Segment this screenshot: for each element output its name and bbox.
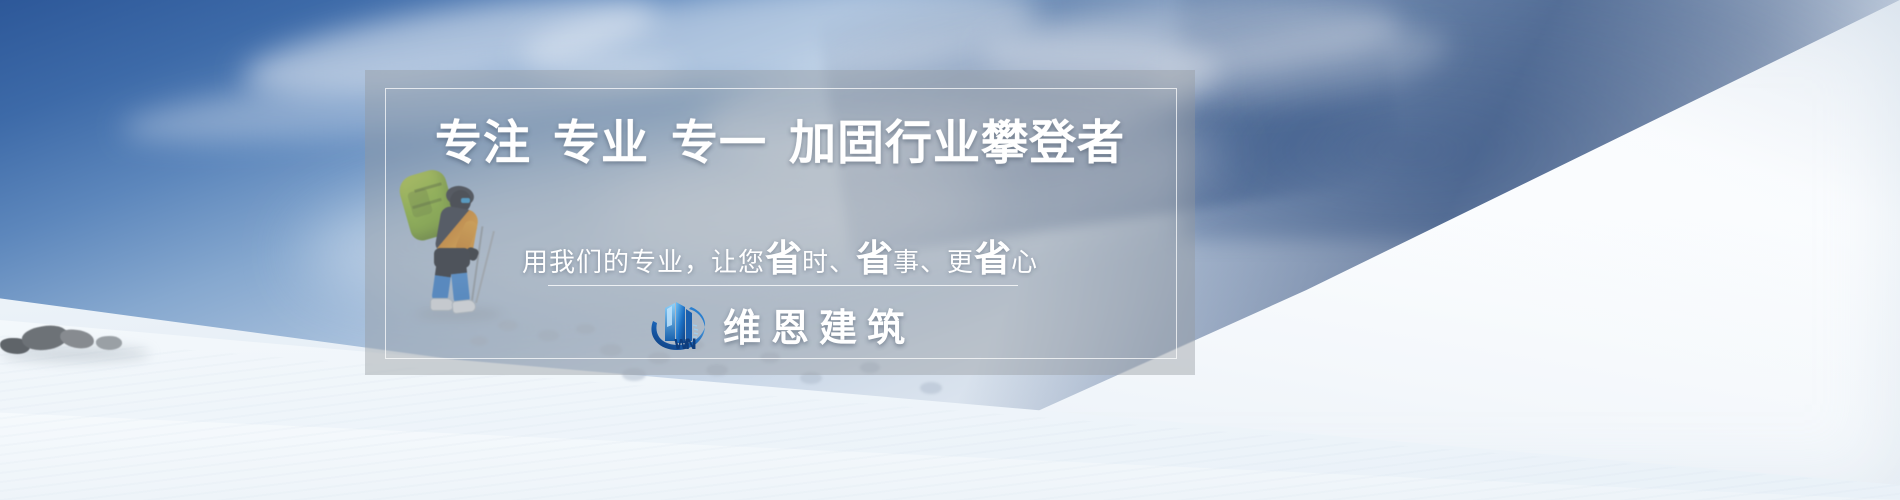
svg-text:N: N	[685, 337, 697, 353]
subtitle-rest-1: 时、	[802, 248, 856, 278]
subtitle-rest-3: 心	[1011, 248, 1038, 278]
banner-subtitle: 用我们的专业，让您省时、省事、更省心	[365, 228, 1195, 282]
brand-row: W N 维恩建筑	[365, 288, 1195, 360]
subtitle-strong-1: 省	[765, 237, 802, 280]
headline-segment-2: 专业	[553, 116, 649, 171]
footprint	[920, 382, 942, 394]
headline-segment-4: 加固行业攀登者	[789, 116, 1125, 171]
company-logo-icon: W N	[645, 295, 707, 353]
headline-segment-3: 专一	[671, 116, 767, 171]
subtitle-strong-2: 省	[856, 237, 893, 280]
hero-banner: 专注专业专一加固行业攀登者 用我们的专业，让您省时、省事、更省心	[0, 0, 1900, 500]
banner-headline: 专注专业专一加固行业攀登者	[365, 118, 1195, 170]
company-name: 维恩建筑	[723, 297, 915, 352]
subtitle-strong-3: 省	[974, 237, 1011, 280]
headline-segment-1: 专注	[435, 116, 531, 171]
section-divider	[548, 285, 1018, 286]
subtitle-lead: 用我们的专业，让您	[522, 248, 765, 278]
subtitle-rest-2: 事、更	[893, 248, 974, 278]
